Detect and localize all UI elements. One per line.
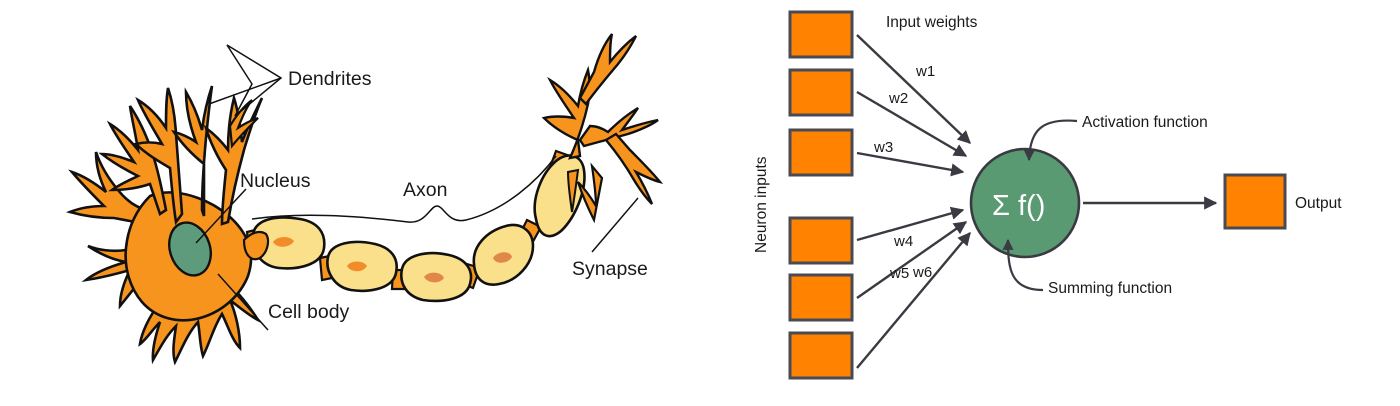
label-dendrites: Dendrites — [288, 68, 372, 90]
neuron-comparison-figure: Dendrites Nucleus Axon Cell body Synapse — [0, 0, 1400, 406]
weight-arrows — [857, 35, 970, 368]
weight-arrow-w6 — [857, 233, 970, 368]
input-box[interactable] — [790, 333, 852, 378]
label-activation-function: Activation function — [1082, 114, 1208, 131]
label-w3: w3 — [873, 139, 893, 156]
biological-neuron-panel: Dendrites Nucleus Axon Cell body Synapse — [70, 34, 660, 362]
synapse-terminal — [606, 134, 660, 204]
label-summing-function: Summing function — [1048, 280, 1172, 297]
label-axon: Axon — [403, 179, 447, 201]
input-box[interactable] — [790, 12, 852, 57]
synapse-leader — [592, 198, 638, 252]
axon-hillock — [244, 232, 268, 259]
label-synapse: Synapse — [572, 258, 648, 280]
label-w5: w5 — [889, 265, 909, 282]
figure-canvas: Dendrites Nucleus Axon Cell body Synapse — [0, 0, 1400, 406]
label-neuron-inputs: Neuron inputs — [753, 156, 770, 253]
label-input-weights: Input weights — [886, 14, 978, 31]
label-w1: w1 — [915, 63, 935, 80]
label-w4: w4 — [893, 233, 913, 250]
soma-and-dendrites — [70, 86, 268, 362]
input-box[interactable] — [790, 218, 852, 263]
label-w6: w6 — [912, 264, 932, 281]
artificial-neuron-panel: Input weights w1 w2 w3 w4 w5 w6 Σ f() Ac… — [753, 12, 1342, 378]
output-box[interactable] — [1225, 175, 1285, 228]
label-nucleus: Nucleus — [240, 170, 311, 192]
neuron-input-boxes — [790, 12, 852, 378]
input-box[interactable] — [790, 70, 852, 115]
weight-arrow-w1 — [857, 35, 970, 143]
neuron-formula-label: Σ f() — [992, 190, 1045, 222]
label-cell-body: Cell body — [268, 301, 350, 323]
input-box[interactable] — [790, 275, 852, 320]
weight-arrow-w3 — [857, 153, 963, 172]
label-w2: w2 — [888, 90, 908, 107]
input-box[interactable] — [790, 130, 852, 175]
label-output: Output — [1295, 195, 1342, 212]
myelin-segment — [535, 155, 585, 236]
